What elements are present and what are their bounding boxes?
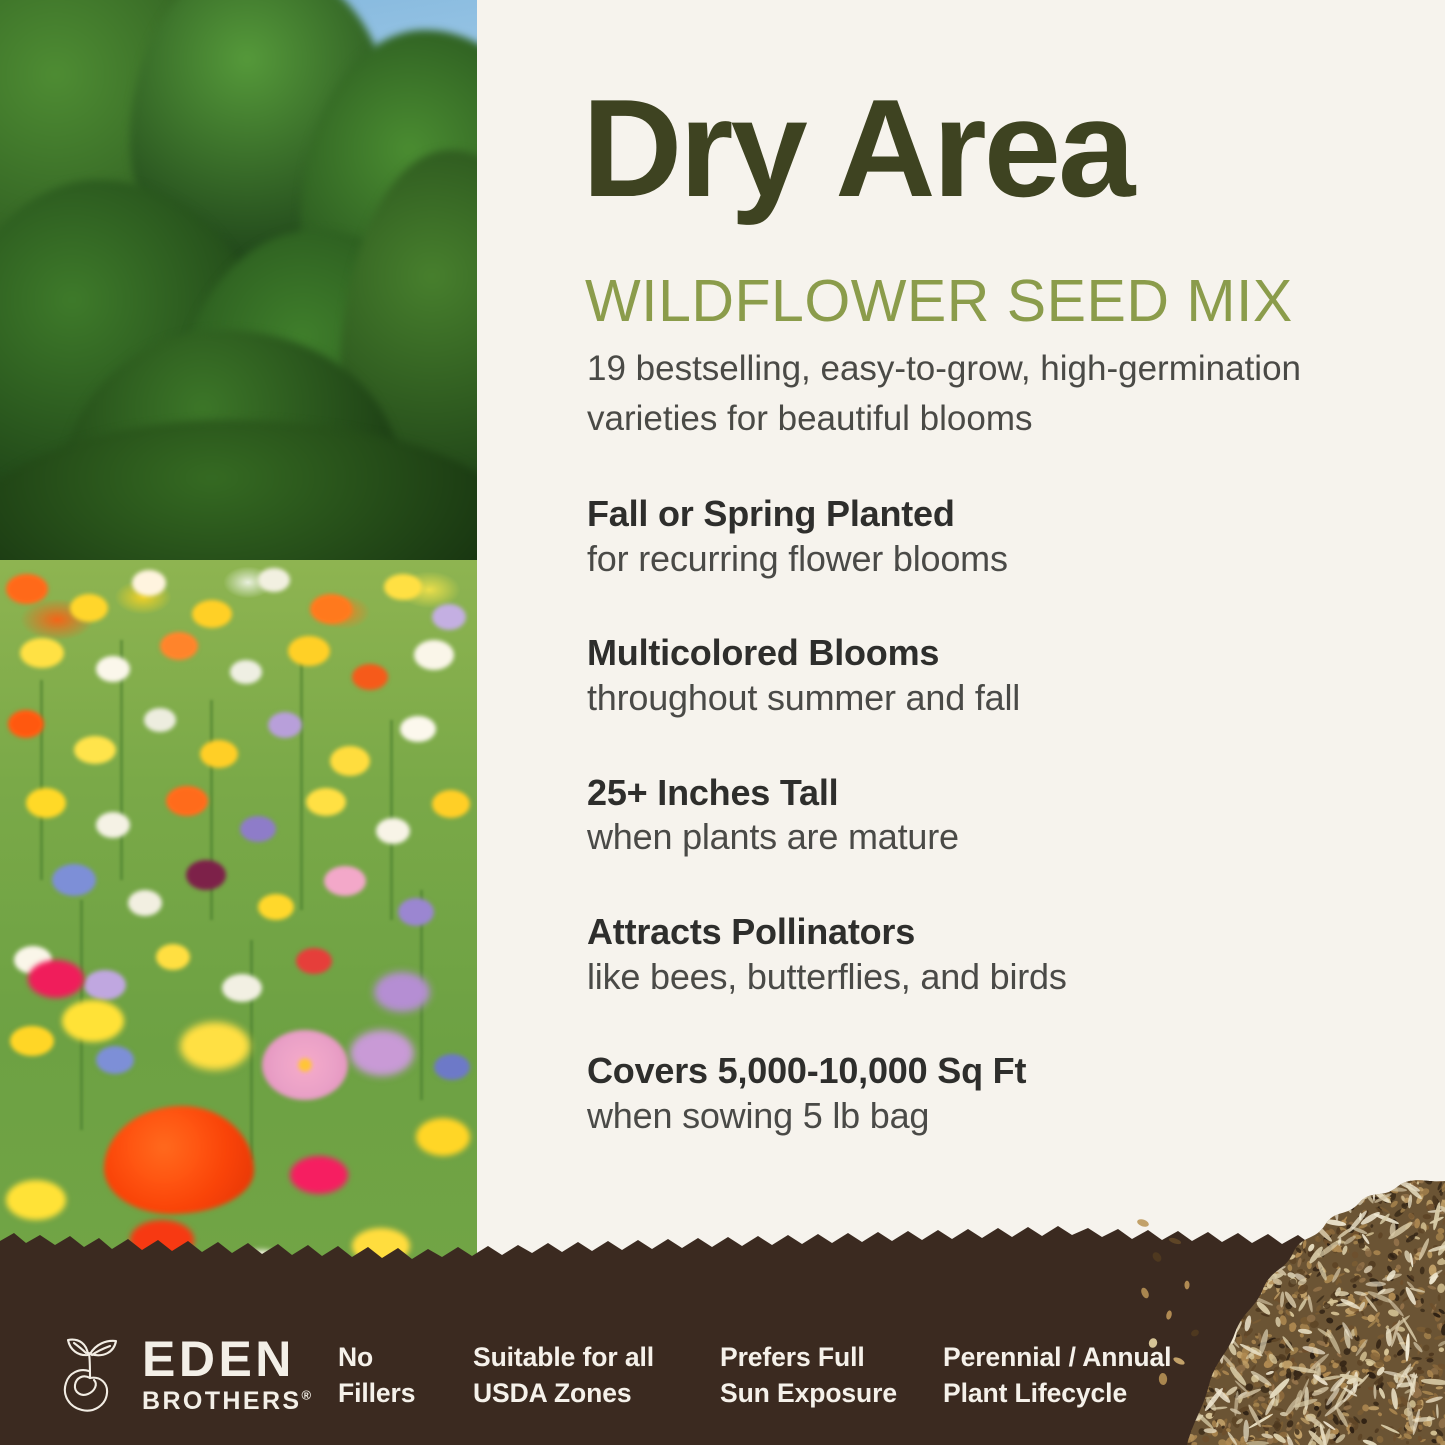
feature-item: Multicolored Blooms throughout summer an…: [587, 631, 1377, 720]
torn-edge-shape: [0, 1223, 1445, 1265]
feature-heading: Multicolored Blooms: [587, 631, 1377, 675]
feature-subtext: throughout summer and fall: [587, 675, 1377, 720]
footer-badge-sun-exposure: Prefers Full Sun Exposure: [720, 1340, 897, 1412]
feature-item: Attracts Pollinators like bees, butterfl…: [587, 910, 1377, 999]
feature-subtext: like bees, butterflies, and birds: [587, 954, 1377, 999]
feature-heading: Fall or Spring Planted: [587, 492, 1377, 536]
feature-heading: Attracts Pollinators: [587, 910, 1377, 954]
product-title: Dry Area: [582, 78, 1132, 220]
feature-heading: 25+ Inches Tall: [587, 771, 1377, 815]
eden-brothers-logo[interactable]: EDEN BROTHERS®: [52, 1328, 311, 1422]
torn-edge-divider: [0, 1223, 1445, 1265]
feature-item: Fall or Spring Planted for recurring flo…: [587, 492, 1377, 581]
treeline: [0, 0, 477, 600]
badge-line-2: USDA Zones: [473, 1376, 654, 1412]
flower-meadow: [0, 560, 477, 1300]
footer-badge-no-fillers: No Fillers: [338, 1340, 415, 1412]
badge-line-2: Fillers: [338, 1376, 415, 1412]
badge-line-1: No: [338, 1340, 415, 1376]
sprout-seedling-icon: [52, 1328, 128, 1422]
footer-badge-plant-lifecycle: Perennial / Annual Plant Lifecycle: [943, 1340, 1171, 1412]
badge-line-1: Perennial / Annual: [943, 1340, 1171, 1376]
logo-secondary-text: BROTHERS®: [142, 1388, 311, 1416]
content-panel: Dry Area WILDFLOWER SEED MIX 19 bestsell…: [477, 0, 1445, 1300]
logo-primary-text: EDEN: [142, 1335, 311, 1384]
feature-list: Fall or Spring Planted for recurring flo…: [587, 492, 1377, 1138]
footer-badge-usda-zones: Suitable for all USDA Zones: [473, 1340, 654, 1412]
feature-subtext: when sowing 5 lb bag: [587, 1093, 1377, 1138]
logo-secondary-label: BROTHERS: [142, 1387, 301, 1415]
feature-heading: Covers 5,000-10,000 Sq Ft: [587, 1049, 1377, 1093]
badge-line-2: Plant Lifecycle: [943, 1376, 1171, 1412]
badge-line-1: Suitable for all: [473, 1340, 654, 1376]
logo-wordmark: EDEN BROTHERS®: [142, 1335, 311, 1416]
registered-trademark-icon: ®: [301, 1387, 311, 1402]
infographic-root: Dry Area WILDFLOWER SEED MIX 19 bestsell…: [0, 0, 1445, 1445]
cosmos-flower: [262, 1030, 348, 1100]
badge-line-2: Sun Exposure: [720, 1376, 897, 1412]
product-subtitle: WILDFLOWER SEED MIX: [585, 272, 1293, 331]
feature-item: 25+ Inches Tall when plants are mature: [587, 771, 1377, 860]
badge-line-1: Prefers Full: [720, 1340, 897, 1376]
feature-subtext: for recurring flower blooms: [587, 536, 1377, 581]
wildflower-meadow-photo: [0, 0, 477, 1300]
product-description: 19 bestselling, easy-to-grow, high-germi…: [587, 344, 1347, 443]
feature-subtext: when plants are mature: [587, 814, 1377, 859]
poppy-flower: [104, 1106, 254, 1214]
feature-item: Covers 5,000-10,000 Sq Ft when sowing 5 …: [587, 1049, 1377, 1138]
